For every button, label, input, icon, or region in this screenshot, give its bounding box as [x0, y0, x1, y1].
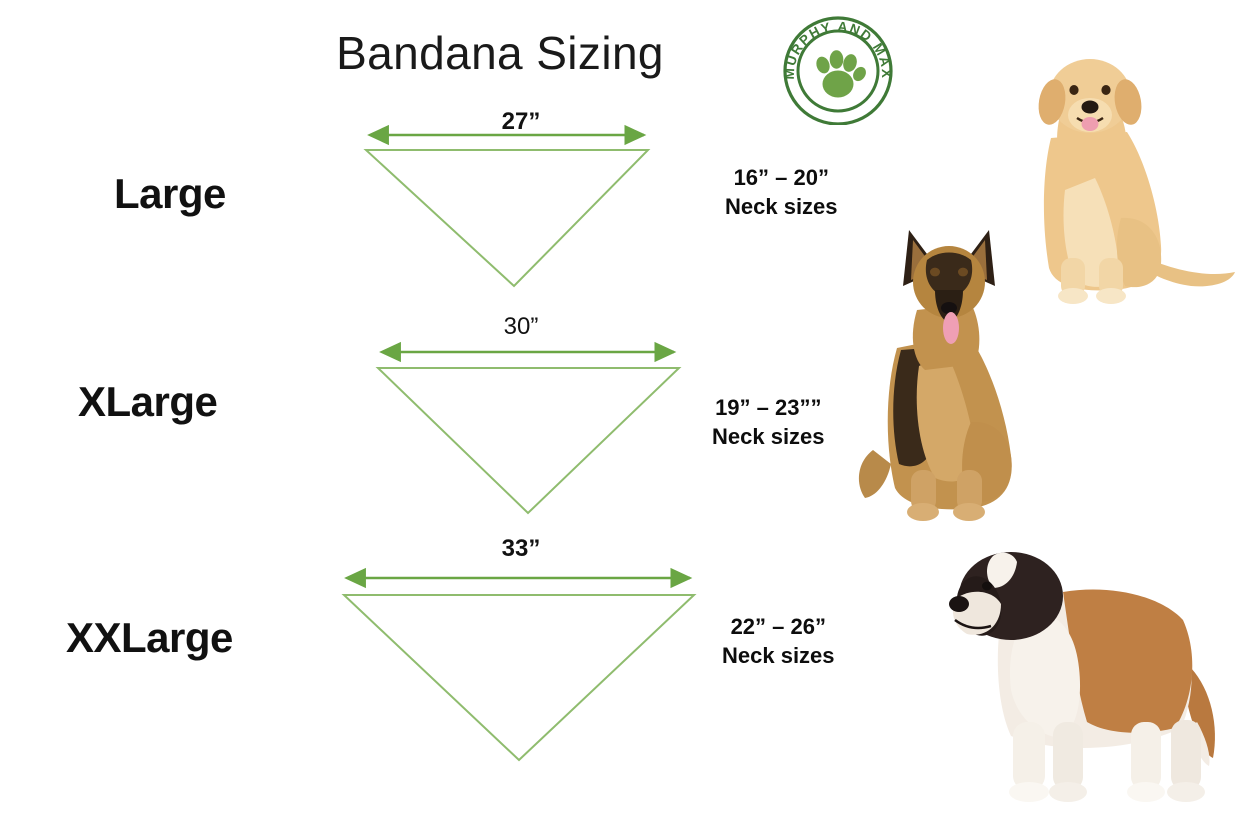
paw-print-icon	[814, 50, 868, 97]
width-label-xlarge: 30”	[504, 313, 539, 341]
bandana-diagram-xxlarge	[344, 578, 694, 760]
logo-svg: MURPHY AND MAX	[778, 13, 898, 125]
neck-size-block-large: 16” – 20” Neck sizes	[725, 163, 838, 221]
german-shepherd-illustration	[843, 198, 1073, 528]
bandana-triangle-xxlarge	[344, 595, 694, 760]
neck-range-xlarge: 19” – 23””	[712, 393, 825, 422]
size-label-xlarge: XLarge	[78, 378, 217, 426]
neck-caption-xlarge: Neck sizes	[712, 422, 825, 451]
width-label-xxlarge: 33”	[502, 535, 541, 563]
neck-size-block-xlarge: 19” – 23”” Neck sizes	[712, 393, 825, 451]
bandana-diagram-xlarge	[378, 352, 679, 513]
size-label-xxlarge: XXLarge	[66, 614, 233, 662]
neck-caption-large: Neck sizes	[725, 192, 838, 221]
bandana-triangle-large	[366, 150, 648, 286]
murphy-and-max-logo: MURPHY AND MAX	[778, 13, 898, 125]
bandana-triangle-xlarge	[378, 368, 679, 513]
neck-caption-xxlarge: Neck sizes	[722, 641, 835, 670]
saint-bernard-illustration	[935, 522, 1245, 812]
neck-range-large: 16” – 20”	[725, 163, 838, 192]
neck-size-block-xxlarge: 22” – 26” Neck sizes	[722, 612, 835, 670]
size-label-large: Large	[114, 170, 226, 218]
width-label-large: 27”	[502, 108, 541, 136]
dog-photo-saint-bernard	[935, 522, 1245, 812]
dog-photo-german-shepherd	[843, 198, 1073, 528]
neck-range-xxlarge: 22” – 26”	[722, 612, 835, 641]
bandana-sizing-infographic: Bandana Sizing MURPHY AND MAX	[0, 0, 1252, 822]
bandana-diagram-large	[366, 135, 648, 286]
